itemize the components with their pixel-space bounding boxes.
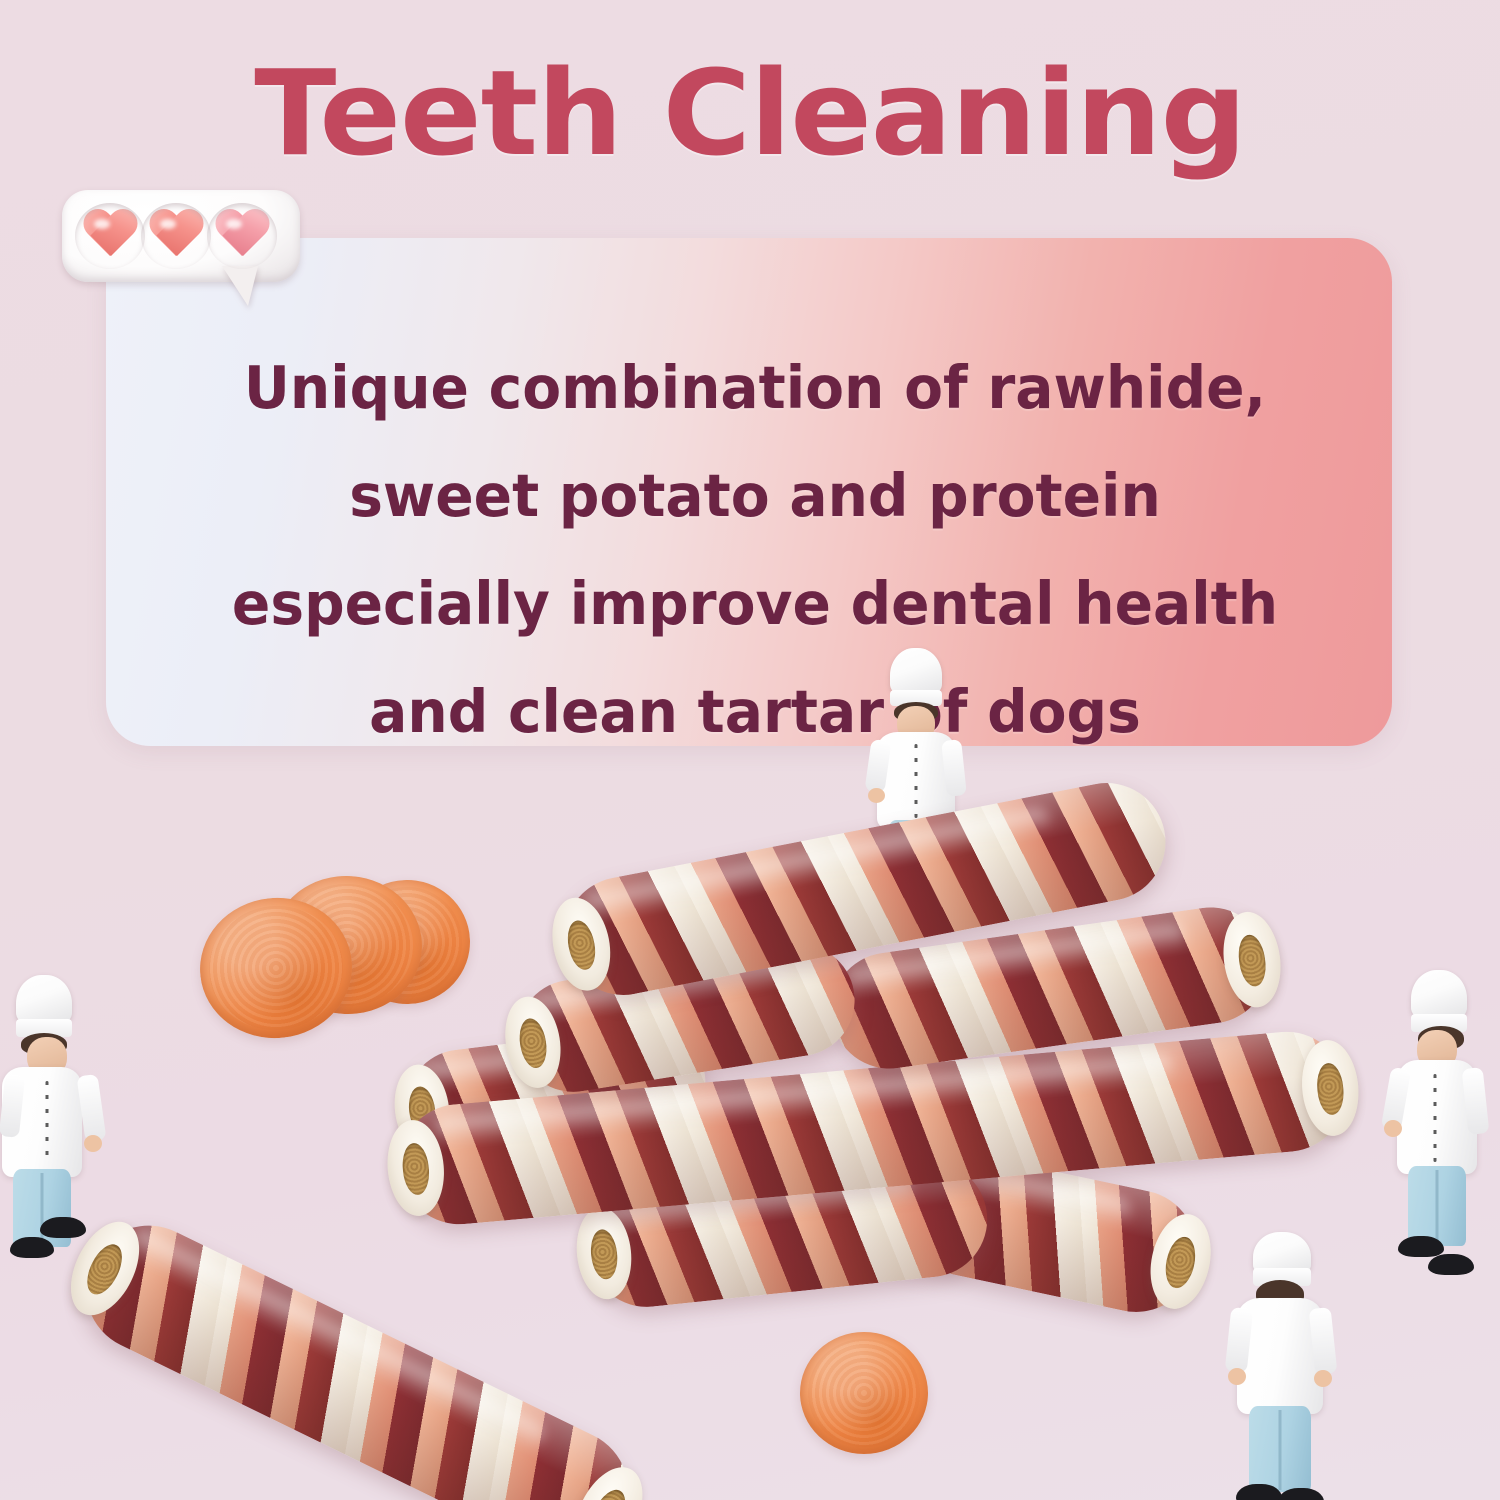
callout-card: Unique combination of rawhide, sweet pot…: [106, 238, 1392, 746]
product-marketing-image: Teeth Cleaning Unique combination of raw…: [0, 0, 1500, 1500]
heart-icon: [82, 210, 138, 262]
chef-figurine: [1222, 1232, 1338, 1500]
chef-shoe: [40, 1217, 86, 1238]
sweet-potato-slice: [800, 1332, 928, 1454]
chef-figurine: [1382, 970, 1492, 1270]
rawhide-chew-single: [64, 1204, 650, 1500]
page-title: Teeth Cleaning: [0, 52, 1500, 175]
heart-icon: [214, 210, 270, 262]
heart-icon: [148, 210, 204, 262]
chef-shoe: [1398, 1236, 1444, 1257]
chef-shoe: [10, 1237, 54, 1258]
hearts-speech-bubble-icon: [62, 190, 304, 310]
chef-shoe: [1428, 1254, 1474, 1275]
chef-figurine: [0, 975, 106, 1275]
callout-card-text: Unique combination of rawhide, sweet pot…: [193, 334, 1316, 766]
speech-bubble-tail: [222, 266, 258, 306]
